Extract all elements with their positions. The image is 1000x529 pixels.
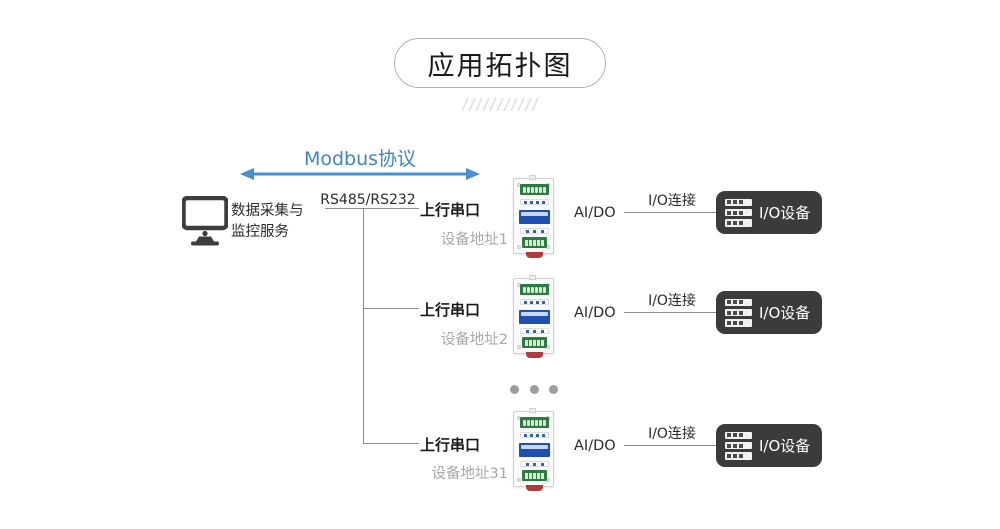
ellipsis-dot [510,385,519,394]
branch-line [363,208,419,209]
io-link-line [624,445,720,446]
io-device-label: I/O设备 [759,202,810,223]
device-tab-top [529,408,536,413]
branch-row: 上行串口 设备地址31 AI/DO I/O连接 I/O设备 [0,0,1000,110]
gateway-device-image [513,178,554,254]
device-bottom-terminal [522,237,547,248]
device-bottom-terminal [522,470,547,481]
port-title: 上行串口 [420,199,508,220]
io-device-label: I/O设备 [759,302,810,323]
device-tab-top [529,175,536,180]
device-led-strip [520,199,549,205]
monitor-icon [182,196,228,246]
more-devices-ellipsis [510,385,558,394]
ellipsis-dot [530,385,539,394]
bus-trunk-vertical-line [363,208,364,443]
device-main-chip [519,210,550,224]
device-top-terminal [520,417,549,428]
signal-label: AI/DO [574,205,616,221]
device-screw [517,345,521,349]
protocol-double-arrow-icon [240,166,480,182]
server-rack-icon [725,199,752,227]
server-rack-icon [725,299,752,327]
server-rack-icon [725,432,752,460]
io-device-label: I/O设备 [759,435,810,456]
device-led-strip [520,432,549,438]
gateway-device-image [513,411,554,487]
port-address: 设备地址1 [388,228,508,249]
device-dip-strip [520,328,549,334]
host-label: 数据采集与 监控服务 [231,201,323,243]
bus-label: RS485/RS232 [318,192,418,208]
port-address: 设备地址2 [388,328,508,349]
branch-line [363,443,419,444]
device-top-terminal [520,184,549,195]
device-bottom-connector [526,352,543,358]
port-title: 上行串口 [420,299,508,320]
io-link-line [624,212,720,213]
device-main-chip [519,443,550,457]
signal-label: AI/DO [574,305,616,321]
device-bottom-connector [526,485,543,491]
io-device-badge[interactable]: I/O设备 [716,191,822,234]
ellipsis-dot [549,385,558,394]
host-label-line1: 数据采集与 [231,201,323,222]
gateway-device-image [513,278,554,354]
device-top-terminal [520,284,549,295]
device-dip-strip [520,461,549,467]
io-device-badge[interactable]: I/O设备 [716,424,822,467]
port-title: 上行串口 [420,434,508,455]
device-screw [517,245,521,249]
device-screw [517,478,521,482]
io-device-badge[interactable]: I/O设备 [716,291,822,334]
io-link-line [624,312,720,313]
device-tab-top [529,275,536,280]
host-label-line2: 监控服务 [231,222,323,243]
device-bottom-terminal [522,337,547,348]
signal-label: AI/DO [574,438,616,454]
device-led-strip [520,299,549,305]
device-main-chip [519,310,550,324]
device-bottom-connector [526,252,543,258]
io-link-label: I/O连接 [624,190,720,210]
io-link-label: I/O连接 [624,290,720,310]
io-link-label: I/O连接 [624,423,720,443]
branch-line [363,308,419,309]
port-address: 设备地址31 [388,462,508,483]
device-dip-strip [520,228,549,234]
